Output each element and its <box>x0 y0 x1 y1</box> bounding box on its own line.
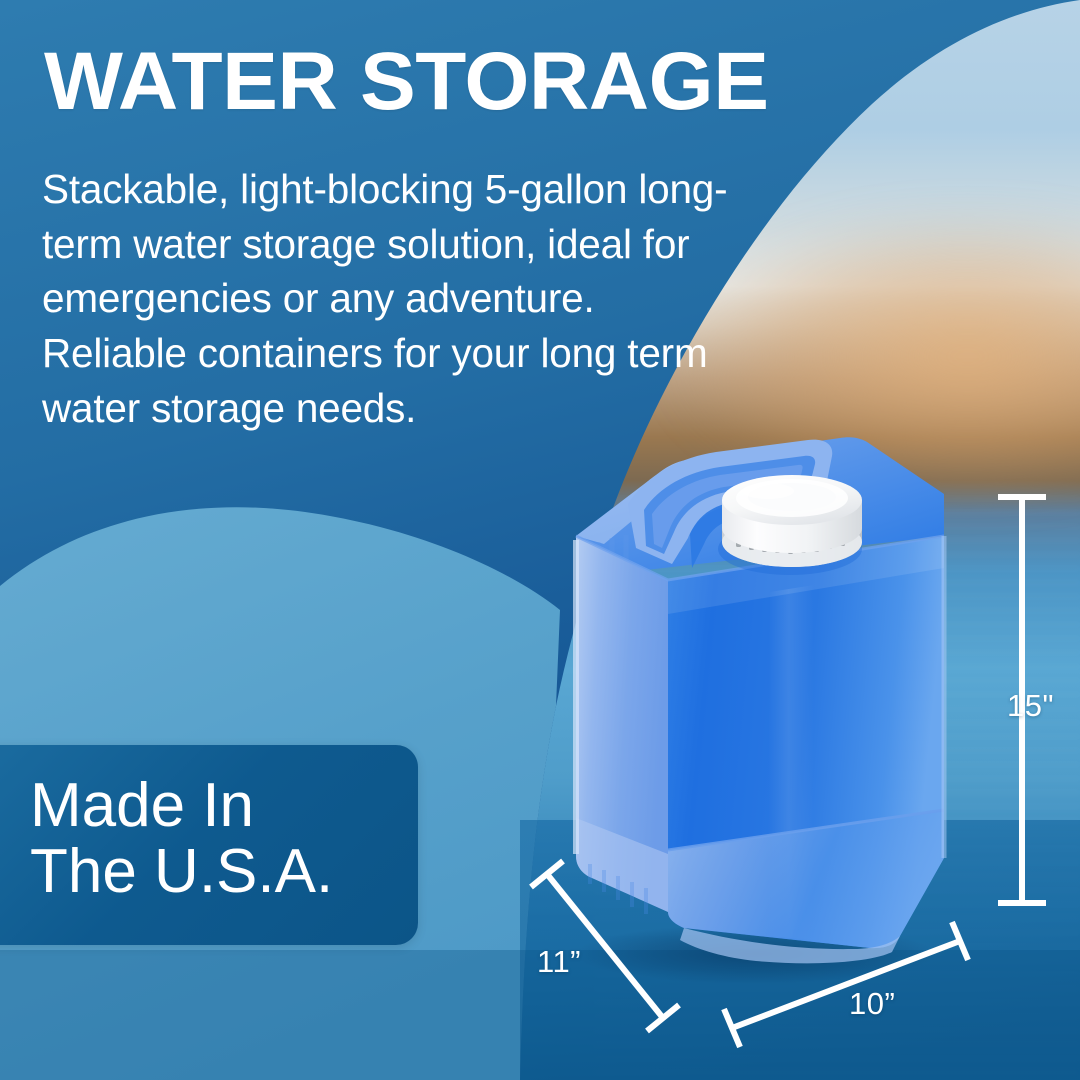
product-description: Stackable, light-blocking 5-gallon long-… <box>42 162 822 435</box>
description-line-1: Stackable, light-blocking 5-gallon long- <box>42 162 822 217</box>
product-image-water-jug <box>540 418 970 1018</box>
description-line-4: Reliable containers for your long term <box>42 326 822 381</box>
page-title: WATER STORAGE <box>44 42 942 122</box>
dimension-label-width: 10” <box>849 986 895 1022</box>
description-line-3: emergencies or any adventure. <box>42 271 822 326</box>
description-line-2: term water storage solution, ideal for <box>42 217 822 272</box>
banner-canvas: WATER STORAGE Stackable, light-blocking … <box>0 0 1080 1080</box>
made-in-usa-badge: Made In The U.S.A. <box>0 745 418 945</box>
dimension-label-depth: 11” <box>537 944 581 980</box>
bottle-cap-icon <box>718 475 862 575</box>
dimension-label-height: 15" <box>1007 688 1054 724</box>
made-in-usa-label: Made In The U.S.A. <box>30 773 333 906</box>
